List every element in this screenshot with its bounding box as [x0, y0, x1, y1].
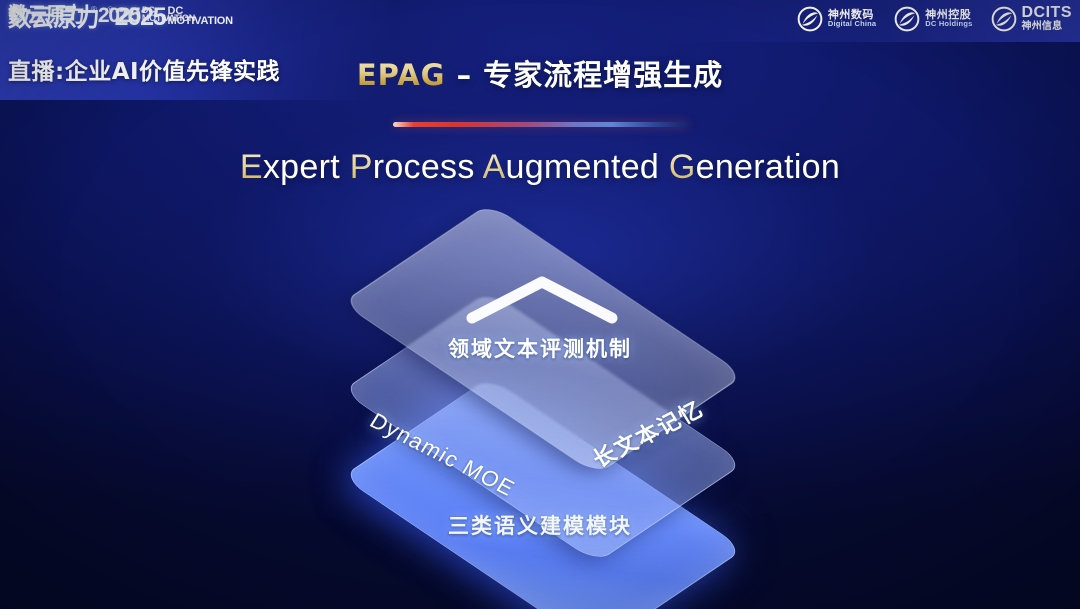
watermark-dc-motivation: DC MOTIVATION: [142, 6, 195, 23]
brand-watermark: 数云原力 ® 2025 DC MOTIVATION: [8, 5, 1070, 603]
watermark-dc-line2: MOTIVATION: [142, 14, 195, 22]
slide-canvas: 数云原力 ® 2025 DC MOTIVATION 直播:企业AI价值先锋实践 …: [0, 0, 1080, 609]
watermark-year: 2025: [98, 5, 140, 26]
watermark-name-cn: 数云原力: [8, 5, 84, 26]
watermark-registered-mark: ®: [91, 5, 97, 14]
